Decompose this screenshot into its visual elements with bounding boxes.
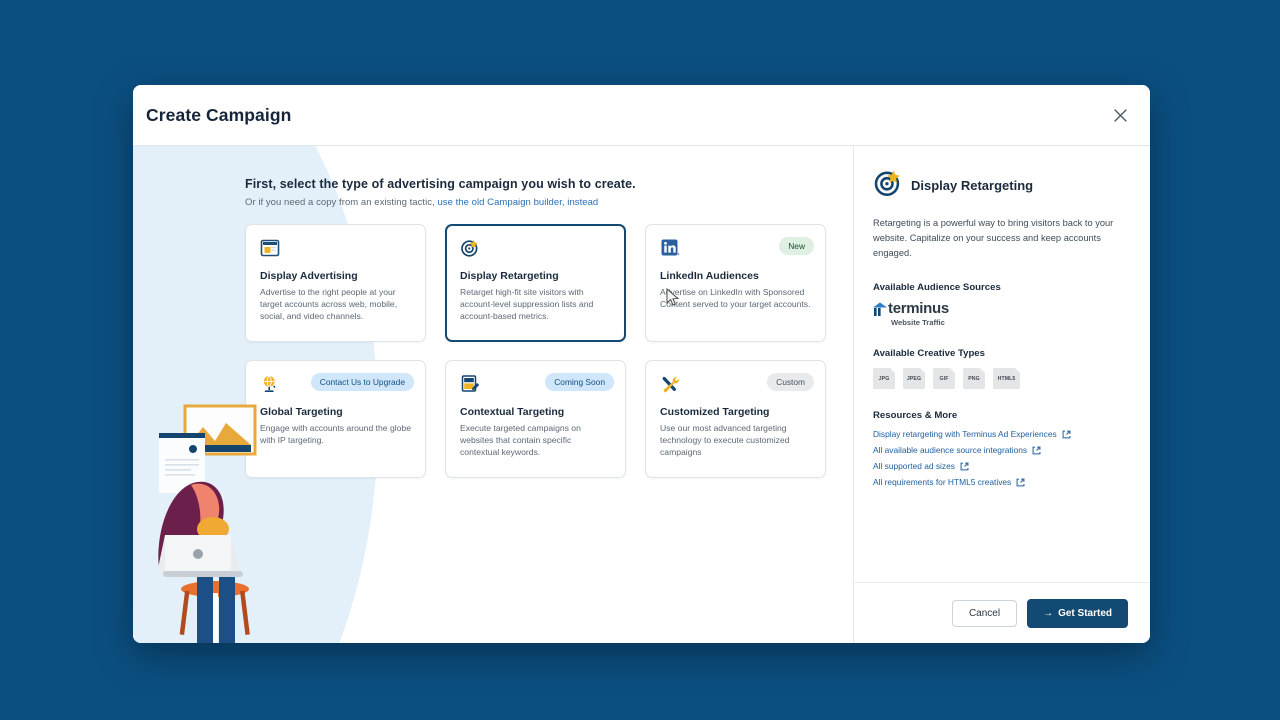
document-pencil-icon	[460, 381, 480, 398]
detail-panel: Display Retargeting Retargeting is a pow…	[853, 146, 1150, 643]
card-title: Customized Targeting	[660, 406, 811, 418]
card-title: Contextual Targeting	[460, 406, 611, 418]
resource-link[interactable]: All supported ad sizes	[873, 461, 1128, 471]
status-badge: New	[779, 237, 814, 255]
terminus-wordmark: terminus	[888, 300, 949, 317]
browser-window-icon	[260, 245, 280, 262]
creative-type-chip: PNG	[963, 368, 985, 389]
globe-icon	[260, 381, 280, 398]
terminus-logo: terminus	[873, 300, 1128, 317]
campaign-type-grid: Display Advertising Advertise to the rig…	[245, 224, 853, 478]
target-sparkle-icon	[873, 168, 903, 203]
card-display-advertising[interactable]: Display Advertising Advertise to the rig…	[245, 224, 426, 342]
card-global-targeting[interactable]: Contact Us to Upgrade Global Targeting E…	[245, 360, 426, 478]
card-title: Display Advertising	[260, 270, 411, 282]
resource-link[interactable]: All requirements for HTML5 creatives	[873, 477, 1128, 487]
target-sparkle-icon	[460, 245, 480, 262]
card-description: Engage with accounts around the globe wi…	[260, 422, 411, 446]
resource-link-label: Display retargeting with Terminus Ad Exp…	[873, 429, 1057, 439]
status-badge: Contact Us to Upgrade	[311, 373, 414, 391]
card-description: Execute targeted campaigns on websites t…	[460, 422, 611, 459]
detail-panel-content: Display Retargeting Retargeting is a pow…	[854, 146, 1150, 583]
audience-source-label: Website Traffic	[891, 318, 1128, 327]
card-title: Global Targeting	[260, 406, 411, 418]
creative-types-title: Available Creative Types	[873, 348, 1128, 359]
audience-sources-title: Available Audience Sources	[873, 282, 1128, 293]
resource-link-label: All requirements for HTML5 creatives	[873, 477, 1011, 487]
external-link-icon	[1062, 430, 1071, 439]
card-display-retargeting[interactable]: Display Retargeting Retarget high-fit si…	[445, 224, 626, 342]
resource-link-label: All available audience source integratio…	[873, 445, 1027, 455]
card-contextual-targeting[interactable]: Coming Soon Contextual Targeting Execute…	[445, 360, 626, 478]
resource-link[interactable]: All available audience source integratio…	[873, 445, 1128, 455]
linkedin-icon	[660, 245, 680, 262]
card-title: LinkedIn Audiences	[660, 270, 811, 282]
section-subheading: Or if you need a copy from an existing t…	[245, 197, 853, 208]
create-campaign-modal: Create Campaign First, select the type o…	[133, 85, 1150, 643]
tools-icon	[660, 381, 680, 398]
resource-link[interactable]: Display retargeting with Terminus Ad Exp…	[873, 429, 1128, 439]
detail-description: Retargeting is a powerful way to bring v…	[873, 216, 1128, 261]
old-campaign-builder-link[interactable]: use the old Campaign builder, instead	[437, 197, 598, 208]
terminus-mark-icon	[873, 301, 888, 317]
subheading-text: Or if you need a copy from an existing t…	[245, 197, 437, 208]
card-description: Advertise to the right people at your ta…	[260, 286, 411, 323]
card-linkedin-audiences[interactable]: New LinkedIn Audiences Advertise on Link…	[645, 224, 826, 342]
status-badge: Coming Soon	[545, 373, 614, 391]
section-heading: First, select the type of advertising ca…	[245, 177, 853, 191]
resources-list: Display retargeting with Terminus Ad Exp…	[873, 429, 1128, 487]
card-description: Use our most advanced targeting technolo…	[660, 422, 811, 459]
modal-body: First, select the type of advertising ca…	[133, 146, 1150, 643]
get-started-button[interactable]: → Get Started	[1027, 599, 1128, 628]
modal-header: Create Campaign	[133, 85, 1150, 146]
creative-type-chip: JPG	[873, 368, 895, 389]
resource-link-label: All supported ad sizes	[873, 461, 955, 471]
creative-type-chip: HTML5	[993, 368, 1020, 389]
creative-type-chip: GIF	[933, 368, 955, 389]
modal-footer: Cancel → Get Started	[854, 583, 1150, 643]
external-link-icon	[960, 462, 969, 471]
close-icon[interactable]	[1106, 101, 1134, 129]
get-started-label: Get Started	[1058, 608, 1112, 619]
status-badge: Custom	[767, 373, 814, 391]
page-title: Create Campaign	[146, 105, 291, 126]
cancel-button[interactable]: Cancel	[952, 600, 1017, 627]
resources-title: Resources & More	[873, 410, 1128, 421]
card-title: Display Retargeting	[460, 270, 611, 282]
arrow-right-icon: →	[1043, 608, 1053, 619]
card-description: Advertise on LinkedIn with Sponsored Con…	[660, 286, 811, 310]
detail-header: Display Retargeting	[873, 168, 1128, 203]
creative-type-chip: JPEG	[903, 368, 925, 389]
card-customized-targeting[interactable]: Custom Customized Targeting Use our most…	[645, 360, 826, 478]
detail-title: Display Retargeting	[911, 178, 1033, 193]
external-link-icon	[1032, 446, 1041, 455]
external-link-icon	[1016, 478, 1025, 487]
creative-types-list: JPG JPEG GIF PNG HTML5	[873, 368, 1128, 389]
campaign-type-section: First, select the type of advertising ca…	[133, 146, 853, 643]
card-description: Retarget high-fit site visitors with acc…	[460, 286, 611, 323]
